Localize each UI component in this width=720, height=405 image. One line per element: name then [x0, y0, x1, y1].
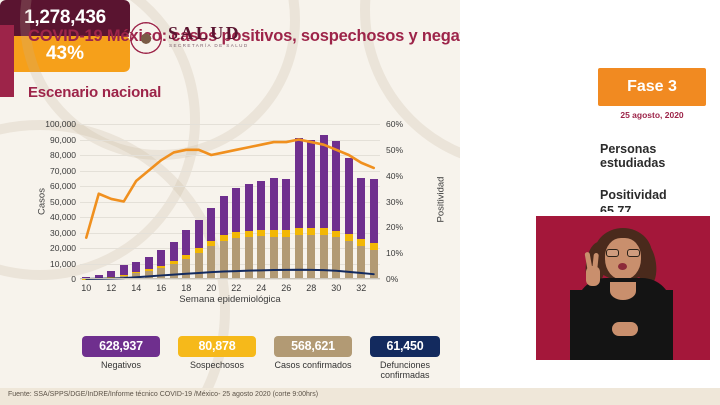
report-date: 25 agosto, 2020: [598, 110, 706, 120]
glasses-icon: [606, 249, 640, 257]
left-accent-bar: [0, 25, 14, 97]
legend-item: 80,878Sospechosos: [178, 336, 256, 370]
x-axis-tick: 16: [156, 283, 166, 293]
x-axis-label: Semana epidemiológica: [80, 294, 380, 305]
eagle-seal-icon: [130, 22, 162, 54]
legend-caption: Sospechosos: [178, 360, 256, 370]
x-axis-tick: 10: [81, 283, 91, 293]
y-axis-right-tick: 20%: [386, 222, 426, 232]
x-axis-tick: 24: [256, 283, 266, 293]
x-axis-tick: 32: [356, 283, 366, 293]
x-axis-tick: 28: [306, 283, 316, 293]
x-axis: [80, 278, 380, 279]
y-axis-tick: 0: [20, 274, 76, 284]
y-axis-tick: 30,000: [20, 228, 76, 238]
x-axis-tick: 14: [131, 283, 141, 293]
y-axis-right-label: Positividad: [436, 165, 447, 235]
legend-caption: Negativos: [82, 360, 160, 370]
x-axis-tick: 20: [206, 283, 216, 293]
y-axis-tick: 50,000: [20, 197, 76, 207]
y-axis-tick: 100,000: [20, 119, 76, 129]
x-axis-tick: 12: [106, 283, 116, 293]
legend-item: 568,621Casos confirmados: [274, 336, 352, 370]
interpreter-hand-lower: [612, 322, 638, 336]
stat-positividad-caption: Positividad: [600, 188, 718, 202]
y-axis-tick: 70,000: [20, 166, 76, 176]
legend-caption: Casos confirmados: [274, 360, 352, 370]
y-axis-tick: 40,000: [20, 212, 76, 222]
video-feed[interactable]: [536, 216, 710, 360]
page-title: COVID-19 México: casos positivos, sospec…: [28, 27, 497, 46]
gridline: [80, 279, 380, 280]
source-text: Fuente: SSA/SPPS/DGE/InDRE/Informe técni…: [8, 391, 318, 398]
legend-item: 61,450Defunciones confirmadas: [370, 336, 440, 380]
interpreter-mouth: [618, 263, 627, 270]
page-subtitle: Escenario nacional: [28, 84, 161, 101]
chart-legend: 628,937Negativos80,878Sospechosos568,621…: [82, 336, 462, 386]
y-axis-right-tick: 50%: [386, 145, 426, 155]
y-axis-right-tick: 10%: [386, 248, 426, 258]
y-axis-right-tick: 60%: [386, 119, 426, 129]
y-axis-tick: 60,000: [20, 181, 76, 191]
legend-value: 628,937: [82, 336, 160, 357]
x-axis-tick: 30: [331, 283, 341, 293]
phase-label: Fase 3: [598, 68, 706, 106]
salud-logo: SALUD SECRETARÍA DE SALUD: [130, 22, 254, 56]
y-axis-tick: 90,000: [20, 135, 76, 145]
line-series: [80, 124, 380, 279]
legend-value: 61,450: [370, 336, 440, 357]
x-axis-tick: 22: [231, 283, 241, 293]
stat-personas-estudiadas-caption: Personas estudiadas: [600, 142, 718, 171]
interpreter-face: [605, 238, 641, 280]
y-axis-tick: 20,000: [20, 243, 76, 253]
salud-sub-wordmark: SECRETARÍA DE SALUD: [169, 43, 249, 48]
covid-chart: Casos Positividad 010,00020,00030,00040,…: [18, 118, 458, 323]
slide-canvas: COVID-19 México: casos positivos, sospec…: [0, 0, 720, 405]
y-axis-tick: 10,000: [20, 259, 76, 269]
phase-badge: Fase 3: [598, 68, 706, 106]
sign-language-video[interactable]: [528, 212, 718, 364]
plot-area: 010,00020,00030,00040,00050,00060,00070,…: [80, 124, 380, 279]
x-axis-tick: 18: [181, 283, 191, 293]
y-axis-tick: 80,000: [20, 150, 76, 160]
salud-wordmark: SALUD: [168, 23, 241, 44]
interpreter-hand-raised: [586, 266, 600, 286]
legend-value: 80,878: [178, 336, 256, 357]
x-axis-tick: 26: [281, 283, 291, 293]
legend-caption: Defunciones confirmadas: [370, 360, 440, 380]
positividad-line: [86, 140, 374, 238]
y-axis-right-tick: 0%: [386, 274, 426, 284]
y-axis-right-tick: 30%: [386, 197, 426, 207]
y-axis-right-tick: 40%: [386, 171, 426, 181]
interpreter-neckline: [610, 282, 636, 300]
footer-bar: Fuente: SSA/SPPS/DGE/InDRE/Informe técni…: [0, 388, 720, 405]
legend-item: 628,937Negativos: [82, 336, 160, 370]
interpreter-arm-right: [656, 290, 673, 360]
interpreter-arm-left: [570, 290, 587, 360]
legend-value: 568,621: [274, 336, 352, 357]
